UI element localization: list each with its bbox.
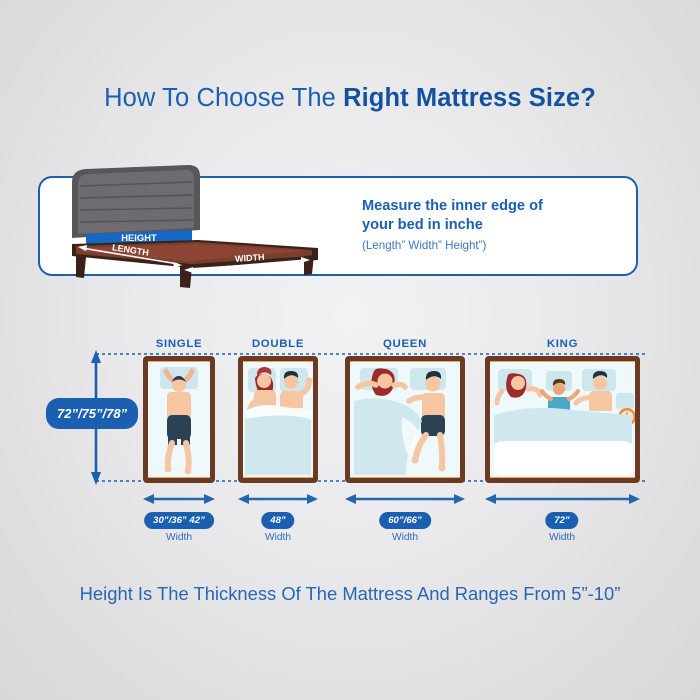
bed-rail-top: [238, 356, 318, 362]
width-badge-single: 30”/36” 42”: [144, 512, 214, 529]
width-caption-queen: Width: [392, 532, 418, 543]
width-caption-king: Width: [549, 532, 575, 543]
bed-illustration: HEIGHT LENGTH WIDTH: [60, 160, 340, 300]
sleeper-figures-double: [243, 361, 313, 478]
callout-main-text: Measure the inner edge of your bed in in…: [362, 197, 624, 234]
bed-panel-single: [143, 356, 215, 483]
height-label: HEIGHT: [121, 232, 157, 243]
footer-note: Height Is The Thickness Of The Mattress …: [0, 583, 700, 605]
size-label-king: KING: [485, 338, 640, 350]
bed-panel-double: [238, 356, 318, 483]
bed-rail-bottom: [485, 477, 640, 483]
callout-line-1: Measure the inner edge of: [362, 197, 624, 216]
sleeper-figures-queen: [350, 361, 460, 478]
page-title-plain: How To Choose The: [104, 84, 343, 112]
bed-panel-queen: [345, 356, 465, 483]
width-caption-single: Width: [166, 532, 192, 543]
size-label-double: DOUBLE: [238, 338, 318, 350]
bed-rail-top: [485, 356, 640, 362]
width-badge-king: 72”: [545, 512, 578, 529]
bed-rail-bottom: [345, 477, 465, 483]
bed-rail-top: [143, 356, 215, 362]
page-title-bold: Right Mattress Size?: [343, 84, 596, 112]
page-title: How To Choose The Right Mattress Size?: [0, 84, 700, 113]
callout-sub-text: (Length” Width” Height”): [362, 239, 624, 252]
callout-text-block: Measure the inner edge of your bed in in…: [362, 197, 624, 252]
size-label-single: SINGLE: [143, 338, 215, 350]
width-caption-double: Width: [265, 532, 291, 543]
callout-line-2: your bed in inche: [362, 216, 624, 235]
bed-rail-bottom: [143, 477, 215, 483]
infographic-root: How To Choose The Right Mattress Size? H…: [0, 0, 700, 700]
width-badge-queen: 60”/66”: [379, 512, 431, 529]
size-comparison-section: SINGLE DOUBLE QUEEN KING: [0, 330, 700, 560]
bed-rail-top: [345, 356, 465, 362]
bed-panel-king: [485, 356, 640, 483]
height-range-badge: 72”/75”/78”: [46, 398, 138, 429]
sleeper-figures-king: [490, 361, 635, 478]
width-label: WIDTH: [235, 252, 265, 264]
width-badge-double: 48”: [261, 512, 294, 529]
bed-rail-bottom: [238, 477, 318, 483]
sleeper-figure-single: [148, 361, 210, 478]
size-label-queen: QUEEN: [345, 338, 465, 350]
